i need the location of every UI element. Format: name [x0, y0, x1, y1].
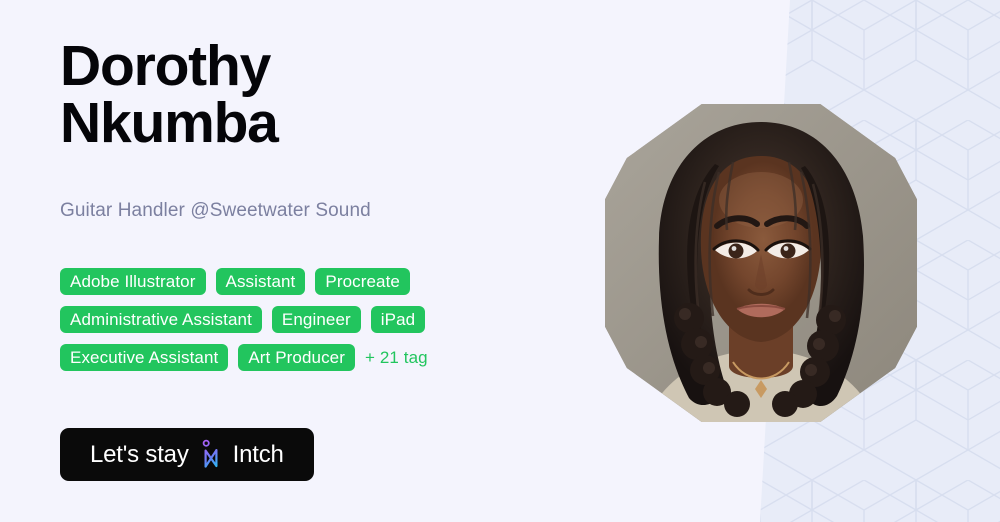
avatar-photo — [605, 104, 917, 422]
profile-content: Dorothy Nkumba Guitar Handler @Sweetwate… — [60, 0, 620, 522]
page-title: Dorothy Nkumba — [60, 38, 278, 152]
tag-chip[interactable]: Engineer — [272, 306, 361, 333]
tag-chip[interactable]: Procreate — [315, 268, 410, 295]
avatar-hexagon-frame — [605, 104, 917, 422]
tag-chip[interactable]: iPad — [371, 306, 425, 333]
cta-text-after: Intch — [233, 441, 284, 469]
tag-chip[interactable]: Art Producer — [238, 344, 355, 371]
tags-overflow-label[interactable]: + 21 tag — [365, 344, 428, 371]
tag-list: Adobe Illustrator Assistant Procreate Ad… — [60, 268, 560, 371]
tag-chip[interactable]: Assistant — [216, 268, 306, 295]
cta-text-before: Let's stay — [90, 441, 189, 469]
intch-logo-icon — [198, 439, 224, 469]
lets-stay-intch-button[interactable]: Let's stay Intch — [60, 428, 314, 481]
tag-chip[interactable]: Adobe Illustrator — [60, 268, 206, 295]
avatar — [605, 104, 917, 422]
tag-chip[interactable]: Administrative Assistant — [60, 306, 262, 333]
tag-chip[interactable]: Executive Assistant — [60, 344, 228, 371]
profile-card: Dorothy Nkumba Guitar Handler @Sweetwate… — [0, 0, 1000, 522]
profile-headline: Guitar Handler @Sweetwater Sound — [60, 198, 371, 224]
